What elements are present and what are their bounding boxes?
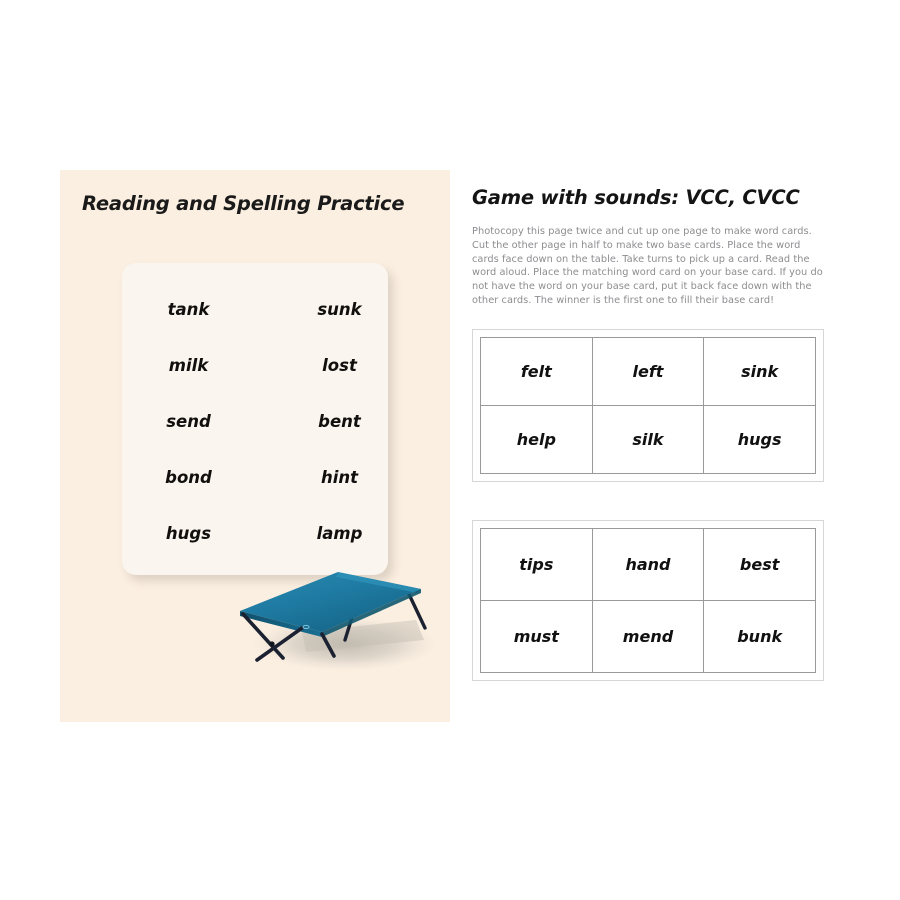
word-row: send bent	[122, 393, 388, 449]
table-row: felt left sink	[481, 337, 816, 405]
cot-fabric-edge	[240, 611, 322, 637]
word-item: lamp	[273, 524, 412, 543]
cot-frame-front	[243, 614, 334, 660]
base-card-grid: felt left sink help silk hugs	[480, 337, 816, 474]
word-item: send	[122, 412, 273, 431]
base-card-grid: tips hand best must mend bunk	[480, 528, 816, 673]
cot-pivot	[269, 641, 274, 646]
word-item: bond	[122, 468, 273, 487]
word-cell[interactable]: sink	[704, 337, 816, 405]
word-item: tank	[122, 300, 273, 319]
word-cell[interactable]: silk	[592, 405, 704, 473]
word-cell[interactable]: mend	[592, 600, 704, 672]
word-row: bond hint	[122, 449, 388, 505]
base-card-1: felt left sink help silk hugs	[472, 329, 824, 482]
table-row: help silk hugs	[481, 405, 816, 473]
word-cell[interactable]: hand	[592, 528, 704, 600]
instructions-text: Photocopy this page twice and cut up one…	[472, 225, 824, 308]
cot-fabric-lip	[336, 572, 421, 593]
word-row: tank sunk	[122, 281, 388, 337]
word-item: sunk	[273, 300, 412, 319]
page-title: Reading and Spelling Practice	[82, 192, 404, 215]
word-list: tank sunk milk lost send bent bond hint …	[122, 263, 388, 575]
word-item: bent	[273, 412, 412, 431]
right-panel: Game with sounds: VCC, CVCC Photocopy th…	[472, 186, 828, 681]
word-item: milk	[122, 356, 273, 375]
word-cell[interactable]: help	[481, 405, 593, 473]
cot-grommet	[303, 625, 309, 628]
cot-shadow-hard	[302, 620, 424, 652]
word-cell[interactable]: hugs	[704, 405, 816, 473]
cot-shadow	[253, 617, 437, 671]
word-cell[interactable]: felt	[481, 337, 593, 405]
worksheet-page: Reading and Spelling Practice tank sunk …	[0, 0, 900, 900]
word-item: hint	[273, 468, 412, 487]
word-cell[interactable]: bunk	[704, 600, 816, 672]
table-row: must mend bunk	[481, 600, 816, 672]
cot-frame-back	[345, 590, 425, 640]
base-card-2: tips hand best must mend bunk	[472, 520, 824, 681]
cot-fabric-edge-right	[322, 589, 421, 637]
left-panel: Reading and Spelling Practice tank sunk …	[60, 170, 450, 722]
cot-fabric	[240, 572, 421, 632]
word-row: milk lost	[122, 337, 388, 393]
word-item: hugs	[122, 524, 273, 543]
word-list-card: tank sunk milk lost send bent bond hint …	[122, 263, 388, 575]
word-cell[interactable]: tips	[481, 528, 593, 600]
word-cell[interactable]: left	[592, 337, 704, 405]
word-cell[interactable]: best	[704, 528, 816, 600]
word-item: lost	[273, 356, 412, 375]
word-row: hugs lamp	[122, 505, 388, 561]
game-title: Game with sounds: VCC, CVCC	[472, 186, 828, 209]
table-row: tips hand best	[481, 528, 816, 600]
word-cell[interactable]: must	[481, 600, 593, 672]
